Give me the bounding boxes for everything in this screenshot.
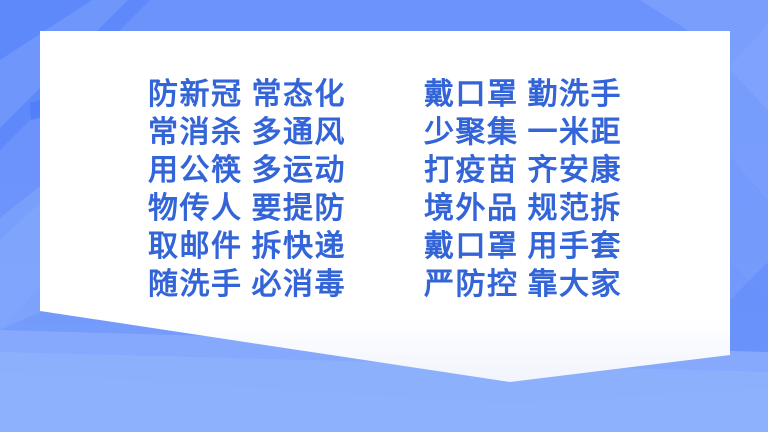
slogan-phrase-a: 取邮件 (148, 228, 243, 266)
slogan-phrase-b: 常态化 (252, 76, 347, 114)
slogan-phrase-a: 随洗手 (148, 266, 243, 304)
slogan-phrase-a: 打疫苗 (424, 152, 519, 190)
slogan-phrase-b: 要提防 (252, 190, 347, 228)
slogan-phrase-b: 勤洗手 (528, 76, 623, 114)
slogan-line: 戴口罩 勤洗手 (424, 76, 622, 114)
slogan-phrase-a: 用公筷 (148, 152, 243, 190)
slogan-phrase-b: 靠大家 (528, 266, 623, 304)
slogan-phrase-b: 多运动 (252, 152, 347, 190)
poster-canvas: 防新冠 常态化 常消杀 多通风 用公筷 多运动 物传人 要提防 取邮件 拆快递 … (0, 0, 768, 432)
slogan-line: 取邮件 拆快递 (148, 228, 346, 266)
slogan-phrase-a: 境外品 (424, 190, 519, 228)
left-column: 防新冠 常态化 常消杀 多通风 用公筷 多运动 物传人 要提防 取邮件 拆快递 … (148, 76, 346, 304)
slogan-phrase-b: 必消毒 (252, 266, 347, 304)
slogan-phrase-b: 规范拆 (528, 190, 623, 228)
slogan-line: 随洗手 必消毒 (148, 266, 346, 304)
slogan-grid: 防新冠 常态化 常消杀 多通风 用公筷 多运动 物传人 要提防 取邮件 拆快递 … (40, 31, 730, 311)
slogan-phrase-b: 齐安康 (528, 152, 623, 190)
slogan-phrase-a: 戴口罩 (424, 76, 519, 114)
slogan-line: 常消杀 多通风 (148, 114, 346, 152)
slogan-phrase-b: 拆快递 (252, 228, 347, 266)
slogan-line: 严防控 靠大家 (424, 266, 622, 304)
slogan-phrase-a: 少聚集 (424, 114, 519, 152)
slogan-line: 戴口罩 用手套 (424, 228, 622, 266)
slogan-phrase-a: 戴口罩 (424, 228, 519, 266)
slogan-phrase-a: 严防控 (424, 266, 519, 304)
slogan-line: 防新冠 常态化 (148, 76, 346, 114)
slogan-phrase-a: 常消杀 (148, 114, 243, 152)
slogan-line: 用公筷 多运动 (148, 152, 346, 190)
slogan-phrase-b: 一米距 (528, 114, 623, 152)
slogan-phrase-b: 用手套 (528, 228, 623, 266)
slogan-phrase-a: 防新冠 (148, 76, 243, 114)
slogan-line: 少聚集 一米距 (424, 114, 622, 152)
slogan-phrase-b: 多通风 (252, 114, 347, 152)
slogan-phrase-a: 物传人 (148, 190, 243, 228)
right-column: 戴口罩 勤洗手 少聚集 一米距 打疫苗 齐安康 境外品 规范拆 戴口罩 用手套 … (424, 76, 622, 304)
slogan-line: 打疫苗 齐安康 (424, 152, 622, 190)
slogan-line: 境外品 规范拆 (424, 190, 622, 228)
slogan-line: 物传人 要提防 (148, 190, 346, 228)
